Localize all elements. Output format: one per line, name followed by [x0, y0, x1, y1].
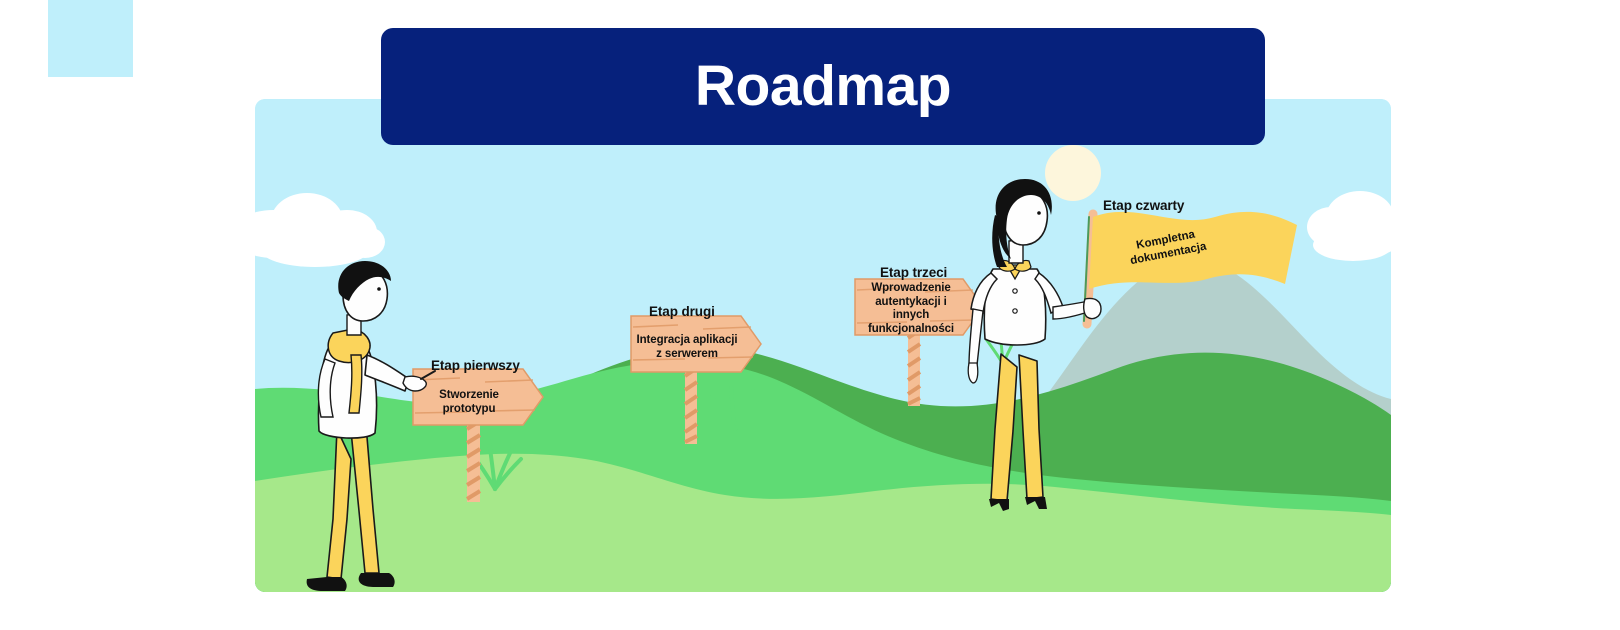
- stage-4-label: Etap czwarty: [1103, 198, 1184, 213]
- stage-3-text: Wprowadzenie autentykacji i innych funkc…: [860, 282, 962, 336]
- stage-3-label: Etap trzeci: [880, 265, 947, 280]
- stage-2-label: Etap drugi: [649, 304, 715, 319]
- sun-icon: [1045, 145, 1101, 201]
- decorative-square: [48, 0, 133, 77]
- stage-1-label: Etap pierwszy: [431, 358, 520, 373]
- title-banner: Roadmap: [381, 28, 1265, 145]
- stage-1-text: Stworzenie prototypu: [417, 389, 521, 416]
- roadmap-illustration: Etap pierwszy Stworzenie prototypu Etap …: [255, 99, 1391, 592]
- page-title: Roadmap: [695, 58, 951, 115]
- stage-2-text: Integracja aplikacji z serwerem: [633, 334, 741, 361]
- scene-svg: [255, 99, 1391, 592]
